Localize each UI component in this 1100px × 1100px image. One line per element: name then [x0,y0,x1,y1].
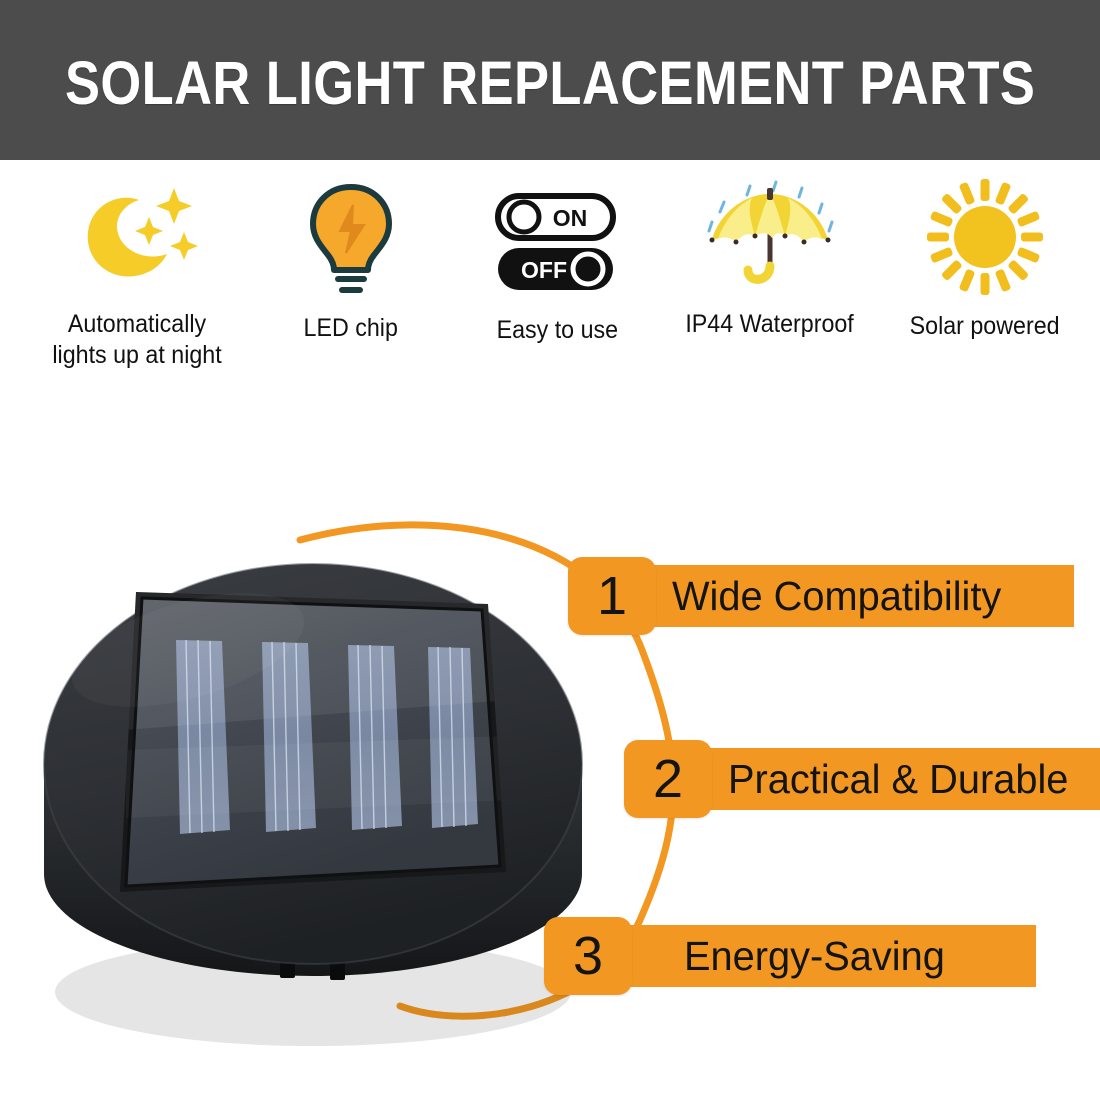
feature-icon-row: Automatically lights up at night LED chi… [0,172,1100,412]
header-band: SOLAR LIGHT REPLACEMENT PARTS [0,0,1100,160]
feature-label: IP44 Waterproof [686,309,854,340]
light-bulb-icon [296,176,406,301]
callout-label: Practical & Durable [728,756,1068,803]
product-callout-stage: 1 Wide Compatibility 2 Practical & Durab… [0,420,1100,1100]
callout-number: 1 [568,557,656,635]
feature-item-ip44-waterproof: IP44 Waterproof [664,172,876,340]
page-title: SOLAR LIGHT REPLACEMENT PARTS [65,48,1035,118]
callout-3[interactable]: 3 Energy-Saving [544,917,1036,995]
umbrella-rain-icon [690,172,850,297]
svg-text:ON: ON [553,205,588,231]
feature-item-auto-night: Automatically lights up at night [22,172,252,371]
moon-stars-icon [57,172,217,297]
feature-label: Solar powered [910,311,1060,342]
callout-label: Wide Compatibility [672,573,1001,620]
callout-label: Energy-Saving [684,933,945,980]
infographic-page: SOLAR LIGHT REPLACEMENT PARTS Automatica… [0,0,1100,1100]
callout-number: 3 [544,917,632,995]
feature-label: Easy to use [496,315,617,346]
feature-label: LED chip [303,313,397,344]
feature-item-solar-powered: Solar powered [882,174,1088,342]
sun-icon [921,174,1049,299]
on-off-toggle-icon: ON OFF [492,178,622,303]
feature-item-easy-to-use: ON OFF Easy to use [452,178,662,346]
callout-number: 2 [624,740,712,818]
solar-light-product [8,500,628,1060]
callout-bar: Practical & Durable [698,748,1100,810]
callout-bar: Wide Compatibility [642,565,1074,627]
svg-text:OFF: OFF [521,257,567,283]
feature-item-led-chip: LED chip [258,176,443,344]
callout-2[interactable]: 2 Practical & Durable [624,740,1100,818]
callout-1[interactable]: 1 Wide Compatibility [568,557,1074,635]
callout-bar: Energy-Saving [618,925,1036,987]
feature-label: Automatically lights up at night [52,309,221,371]
